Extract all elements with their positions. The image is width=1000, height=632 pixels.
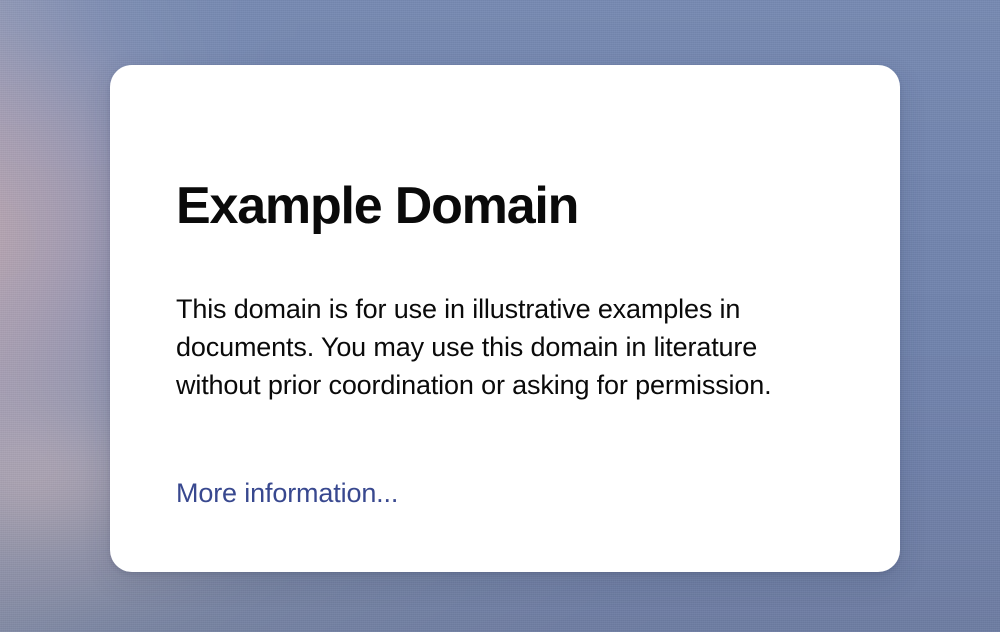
more-information-link[interactable]: More information... <box>176 476 398 510</box>
content-card: Example Domain This domain is for use in… <box>110 65 900 572</box>
page-title: Example Domain <box>176 178 578 234</box>
body-paragraph: This domain is for use in illustrative e… <box>176 290 841 404</box>
page-root: Example Domain This domain is for use in… <box>0 0 1000 632</box>
